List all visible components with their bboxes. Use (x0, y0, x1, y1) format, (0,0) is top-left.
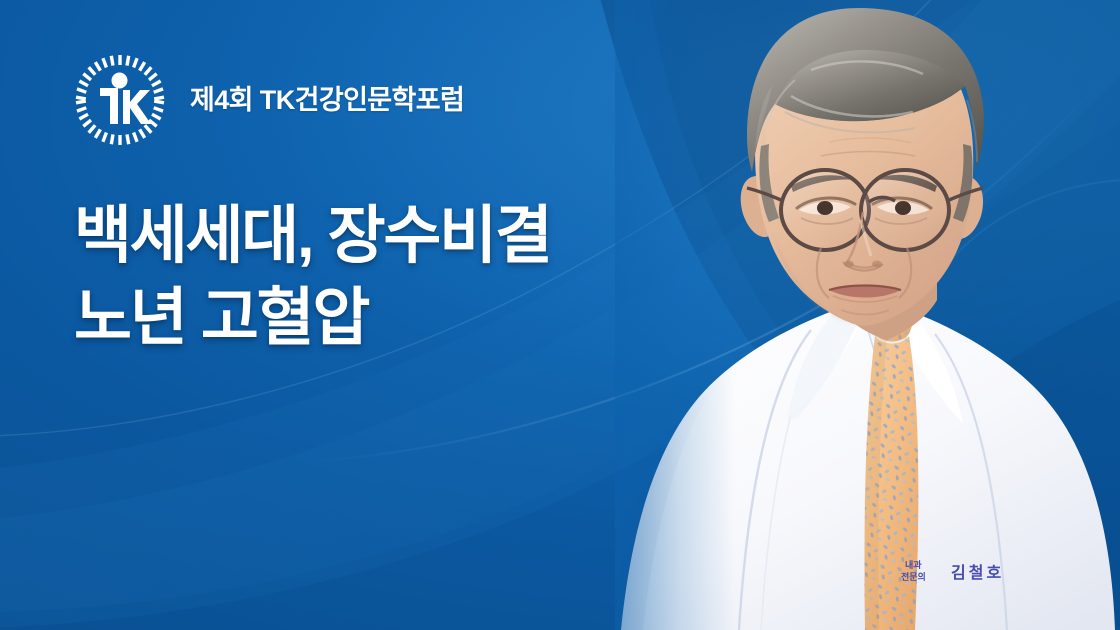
header-lockup: 제4회 TK건강인문학포럼 (72, 52, 464, 148)
title-line-2: 노년 고혈압 (74, 278, 694, 360)
embroidery-name: 김철호 (951, 563, 1004, 582)
forum-banner: 내과 전문의 김철호 (0, 0, 1120, 630)
title-line-1: 백세세대, 장수비결 (74, 196, 694, 278)
embroidery-specialty-line1: 내과 (905, 559, 922, 570)
page-title: 백세세대, 장수비결 노년 고혈압 (74, 196, 694, 360)
tk-forum-sunburst-logo (72, 52, 168, 148)
doctor-head (747, 8, 984, 326)
embroidery-specialty-line2: 전문의 (901, 571, 926, 582)
tk-monogram (100, 73, 151, 125)
forum-name: 제4회 TK건강인문학포럼 (190, 87, 464, 114)
sunburst-rays (76, 55, 164, 145)
